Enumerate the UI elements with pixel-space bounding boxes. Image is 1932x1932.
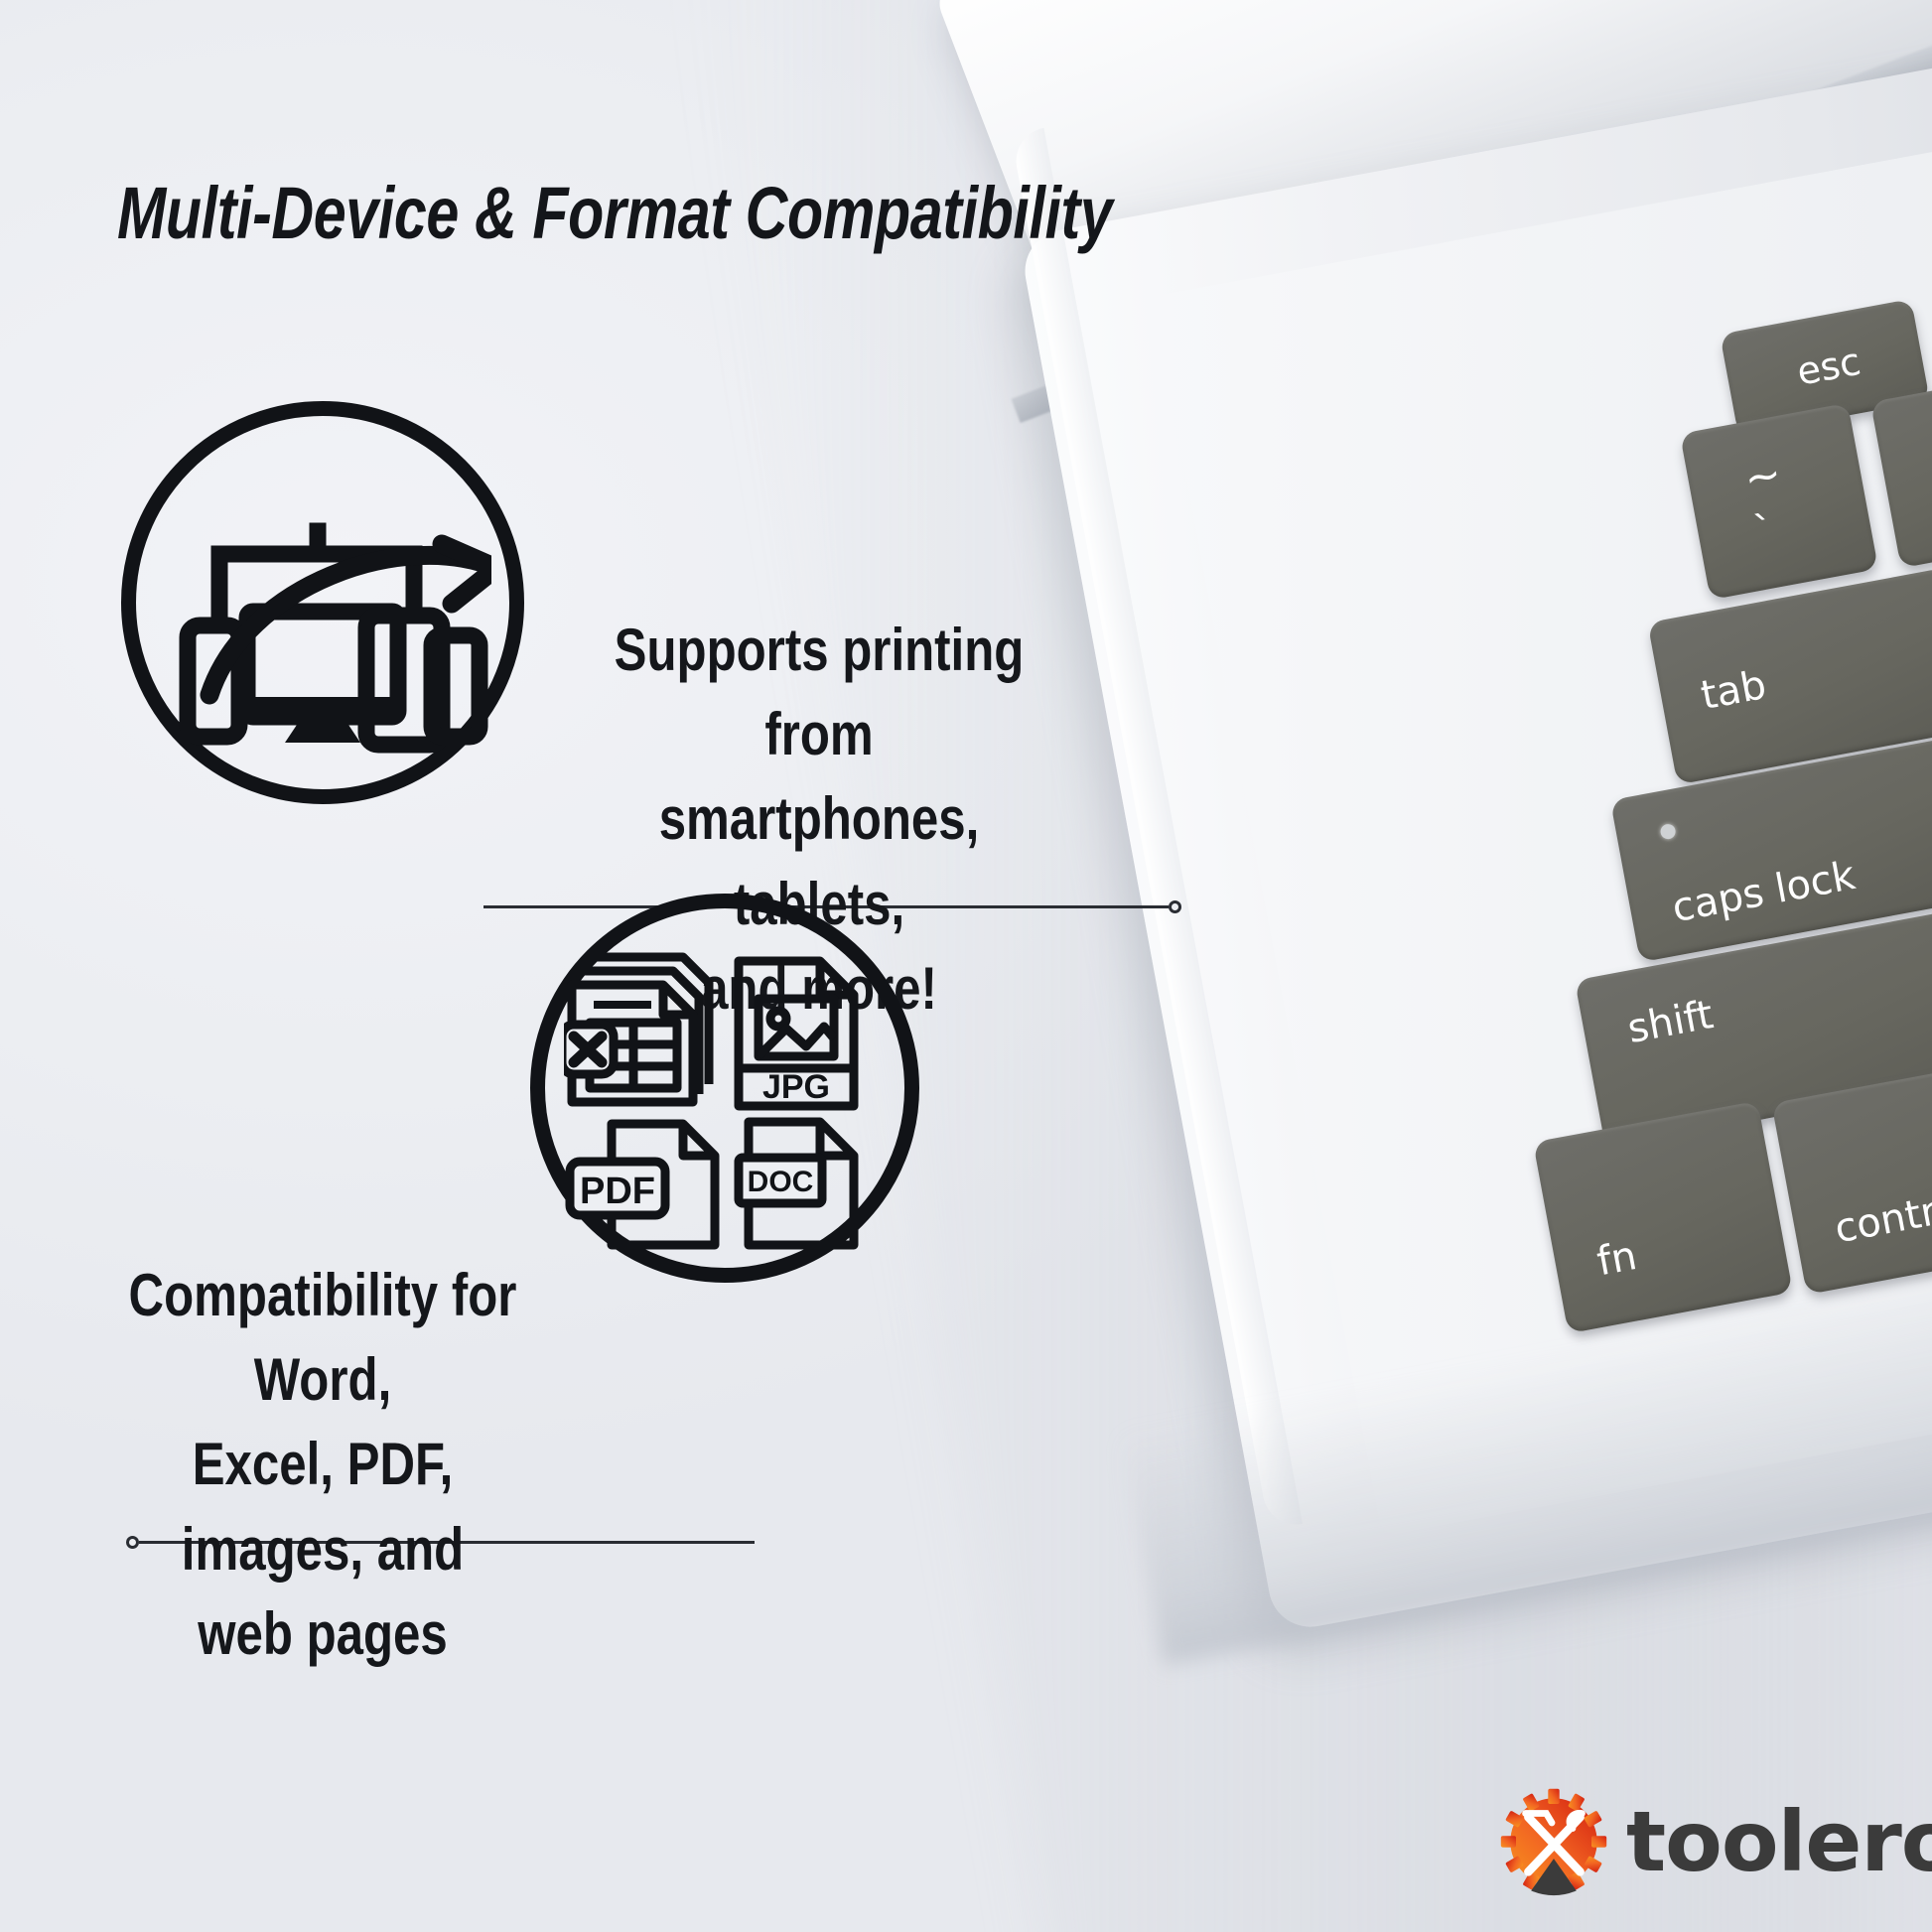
jpg-label: JPG (762, 1068, 830, 1106)
tooleroo-gear-icon (1497, 1785, 1610, 1898)
doc-label: DOC (748, 1166, 814, 1198)
file-formats-icon: JPG PDF DOC (564, 927, 888, 1251)
brand-logo[interactable]: tooleroo (1497, 1785, 1932, 1898)
poster-content: Multi-Device & Format Compatibility (0, 0, 1932, 1932)
feature-line: Supports printing from (604, 608, 1035, 776)
feature-line: Compatibility for Word, (107, 1253, 539, 1422)
page-title: Multi-Device & Format Compatibility (117, 171, 1112, 255)
devices-sync-icon (154, 437, 491, 774)
connector-dot-top (1169, 900, 1181, 913)
pdf-label: PDF (580, 1171, 655, 1212)
poster-canvas: esc ~ ` tab caps lock shift fn (0, 0, 1932, 1932)
feature-line: Excel, PDF, images, and (107, 1422, 539, 1590)
feature-line: web pages (107, 1591, 539, 1676)
logo-wordmark: tooleroo (1626, 1800, 1932, 1883)
feature-text-file-formats: Compatibility for Word, Excel, PDF, imag… (107, 1253, 539, 1676)
